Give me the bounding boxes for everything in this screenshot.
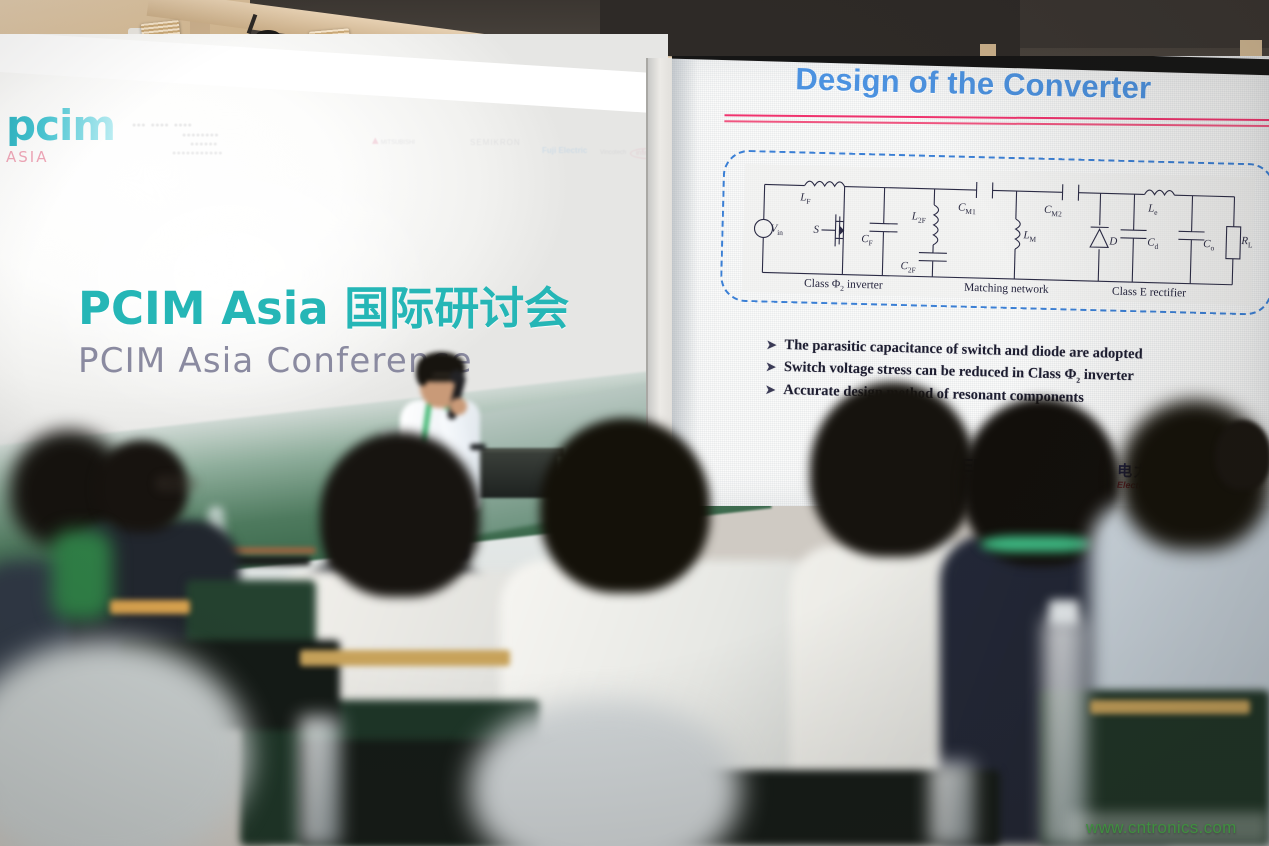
bullet-arrow-icon: ➤ — [765, 381, 775, 397]
attendee-head — [1215, 420, 1269, 490]
bullet-text: Switch voltage stress can be reduced in … — [784, 359, 1134, 386]
section-label-matching: Matching network — [964, 282, 1049, 296]
water-bottle — [930, 762, 974, 846]
label-le: Le — [1148, 203, 1158, 217]
attendee-lanyard — [980, 536, 1092, 552]
bottle-cap — [1049, 600, 1079, 626]
attendee-glasses — [158, 478, 196, 489]
label-vin: Vin — [770, 223, 783, 238]
label-d: D — [1109, 236, 1117, 248]
attendee-body — [52, 530, 112, 620]
attendee-head — [540, 418, 710, 593]
label-rl: RL — [1241, 235, 1253, 249]
speaker-hand — [450, 398, 467, 415]
presentation-clicker — [470, 444, 486, 450]
table-highlight — [300, 650, 510, 666]
fuji-electric-logo: Fuji Electric — [542, 146, 587, 155]
label-cf: CF — [861, 233, 873, 247]
water-bottle — [300, 716, 340, 846]
label-l2f: L2F — [912, 210, 926, 225]
label-c2f: C2F — [900, 260, 916, 275]
label-cd: Cd — [1147, 237, 1158, 251]
label-lf: LF — [800, 191, 811, 205]
table-highlight — [110, 600, 190, 614]
converter-circuit-diagram: LF Vin S CF L2F C2F CM1 LM CM2 D Cd Le C… — [742, 164, 1255, 305]
slide-title-rule-2 — [724, 120, 1269, 126]
bullet-arrow-icon: ➤ — [766, 337, 776, 353]
label-cm1: CM1 — [958, 202, 976, 217]
bullet-arrow-icon: ➤ — [766, 359, 776, 375]
label-co: Co — [1203, 238, 1214, 252]
attendee-head — [810, 382, 975, 557]
semikron-logo: SEMIKRON — [470, 138, 521, 147]
label-cm2: CM2 — [1044, 204, 1062, 219]
section-label-inverter: Class Φ2 inverter — [804, 278, 883, 294]
attendee-head — [320, 432, 480, 597]
banner-headline-en: PCIM Asia Conference — [78, 341, 638, 381]
bottle-cap — [210, 508, 222, 517]
conference-photo: pcim ASIA ●●● ●●●● ●●●● ●●●●●●●● ●●●●●● … — [0, 0, 1269, 846]
speaker-hair-side — [416, 360, 429, 386]
watermark: www.cntronics.com — [1086, 818, 1237, 838]
label-s: S — [813, 224, 819, 236]
microphone-head — [450, 370, 464, 384]
banner-headline-block: PCIM Asia 国际研讨会 PCIM Asia Conference — [78, 272, 638, 381]
label-lm: LM — [1023, 229, 1036, 244]
ceiling-panel-right — [1020, 0, 1269, 48]
banner-headline-cn: PCIM Asia 国际研讨会 — [78, 272, 638, 337]
table-highlight — [1090, 700, 1250, 714]
vincotech-logo: Vincotech — [600, 150, 626, 156]
section-label-rectifier: Class E rectifier — [1112, 286, 1186, 300]
